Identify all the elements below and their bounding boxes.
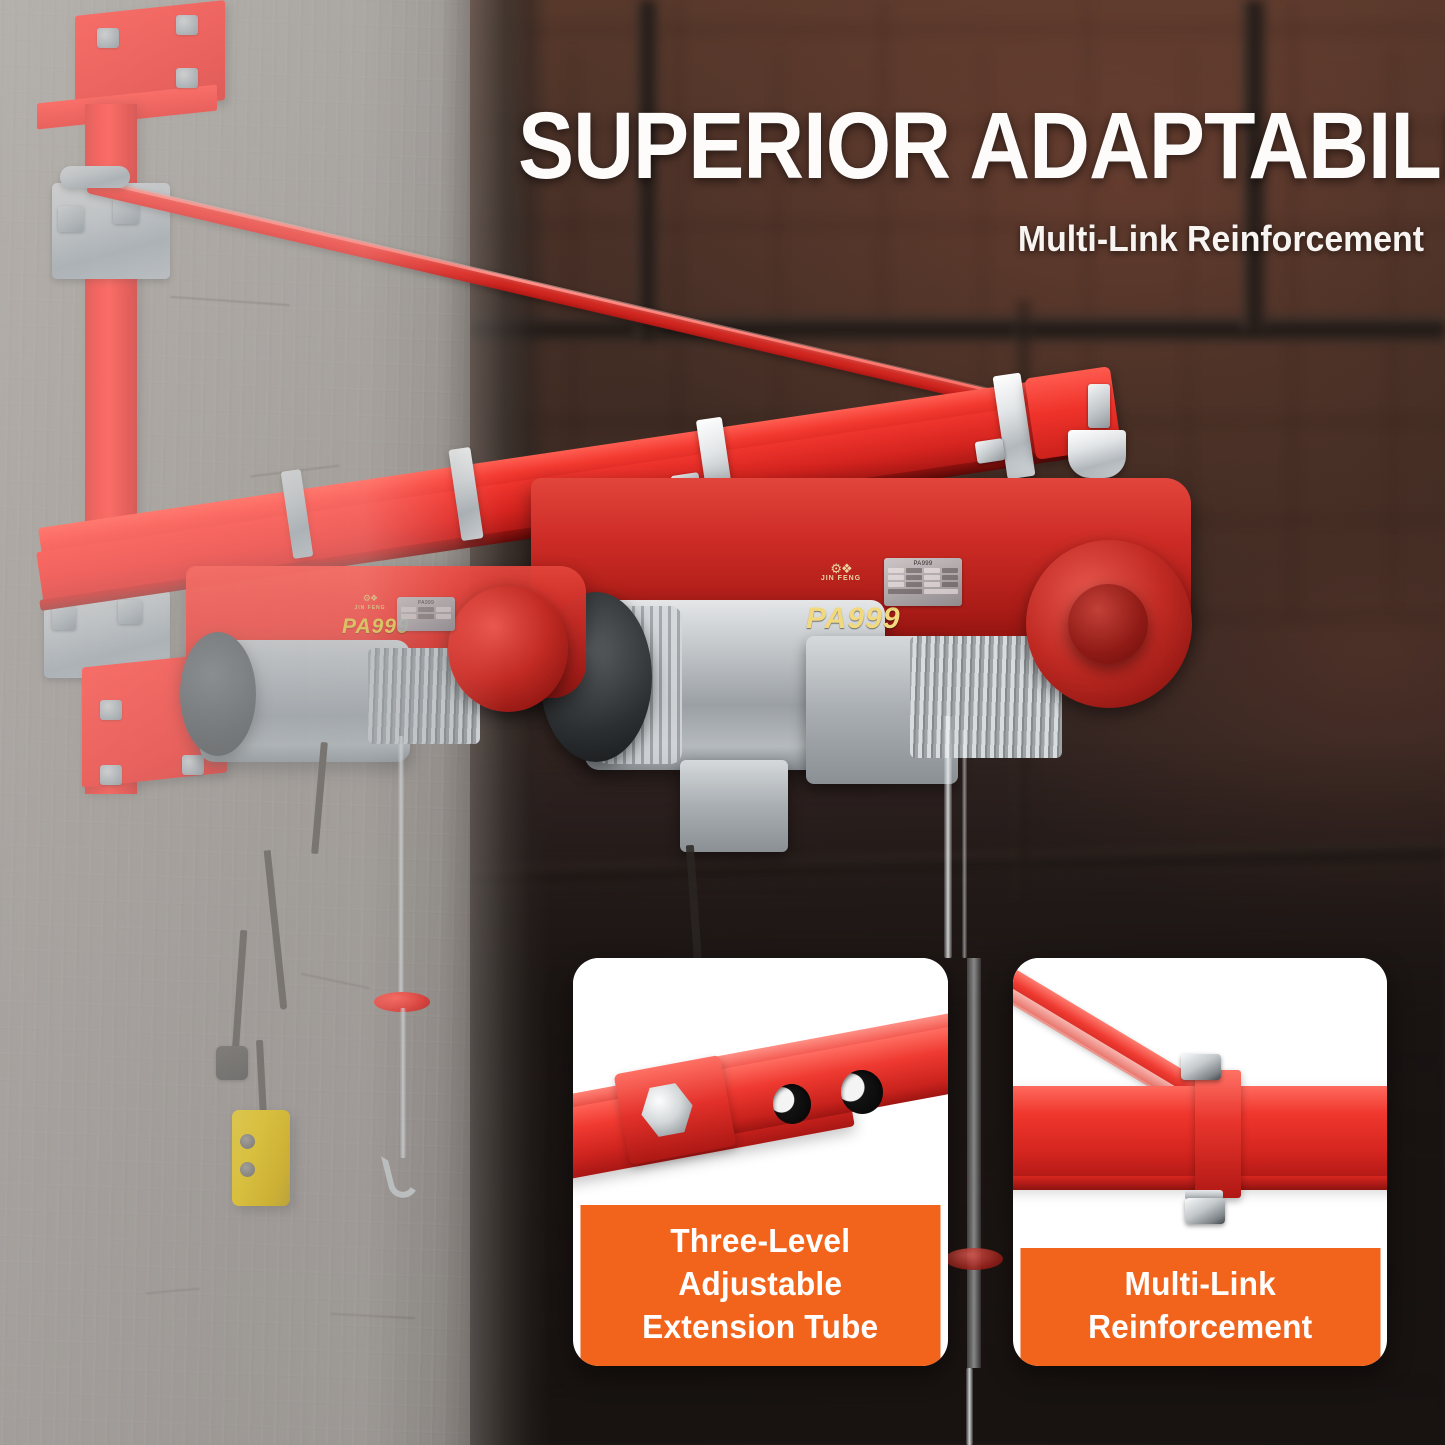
spec-cell xyxy=(942,582,958,587)
spec-plate-row xyxy=(884,588,962,595)
jin-feng-logo-icon: ⚙❖ xyxy=(812,562,870,575)
product-marketing-banner: ⚙❖ JIN FENG PA999 PA999 ⚙❖ JIN FENG PA99… xyxy=(0,0,1445,1445)
plate-bolt-top-left xyxy=(97,28,119,48)
control-cable-right xyxy=(686,845,702,965)
spec-cell xyxy=(906,568,922,573)
feature-card-multi-link[interactable]: Multi-Link Reinforcement xyxy=(1013,958,1388,1366)
spec-cell xyxy=(436,607,451,612)
spec-plate-title-right: PA999 xyxy=(884,558,962,567)
lifting-hook-left xyxy=(381,1149,421,1201)
lower-plate-bolt-4 xyxy=(182,755,204,775)
power-cord-plug-lead xyxy=(232,930,248,1054)
wire-rope-right-tail xyxy=(966,1368,973,1445)
page-subtitle: Multi-Link Reinforcement xyxy=(896,217,1424,261)
page-title: SUPERIOR ADAPTABILITY xyxy=(518,96,1328,196)
motor-junction-box-right xyxy=(680,760,788,852)
upper-clamp-nut-left xyxy=(58,206,84,232)
tie-rod-top-eye xyxy=(60,166,130,188)
plate-bolt-bottom-right xyxy=(176,68,198,88)
feature-card-group: Three-Level Adjustable Extension Tube Mu… xyxy=(573,958,1387,1366)
brand-logo-right: ⚙❖ JIN FENG xyxy=(812,562,870,582)
wire-rope-left xyxy=(398,736,404,1000)
feature-caption-multi-link: Multi-Link Reinforcement xyxy=(1020,1248,1380,1366)
spec-cell xyxy=(924,582,940,587)
jin-feng-logo-icon: ⚙❖ xyxy=(348,592,392,605)
spec-cell xyxy=(924,568,940,573)
spec-plate-row xyxy=(884,581,962,588)
spec-cell xyxy=(942,575,958,580)
model-number-right: PA999 xyxy=(806,602,901,636)
wire-rope-right xyxy=(944,716,952,958)
lower-plate-bolt-1 xyxy=(100,700,122,720)
spec-plate-row xyxy=(397,613,455,620)
tie-rod-highlight xyxy=(90,177,1103,418)
lower-lock-nut xyxy=(1185,1198,1225,1224)
spec-cell xyxy=(888,582,904,587)
spec-cell xyxy=(942,568,958,573)
pendant-up-button[interactable] xyxy=(240,1134,255,1149)
drum-end-cap-left xyxy=(448,586,568,712)
wire-rope-left-lower xyxy=(400,1008,406,1158)
power-cord-loop xyxy=(264,850,288,1010)
spec-cell xyxy=(906,582,922,587)
brand-name-right: JIN FENG xyxy=(812,575,870,582)
spec-plate-left: PA999 xyxy=(397,597,455,631)
spec-plate-title-left: PA999 xyxy=(397,597,455,606)
pendant-control[interactable] xyxy=(232,1110,290,1206)
spec-plate-row xyxy=(884,567,962,574)
spec-cell xyxy=(888,568,904,573)
caption-line-2: Reinforcement xyxy=(1028,1305,1372,1348)
upper-lock-nut xyxy=(1181,1054,1221,1080)
brand-name-left: JIN FENG xyxy=(348,605,392,611)
boom-strap-nut-4 xyxy=(975,438,1006,464)
spec-cell xyxy=(906,575,922,580)
lower-clamp-nut-b xyxy=(118,600,142,624)
spec-cell xyxy=(401,607,416,612)
feature-caption-extension-tube: Three-Level Adjustable Extension Tube xyxy=(580,1205,940,1366)
pendant-cable xyxy=(256,1040,267,1118)
caption-line-1: Three-Level Adjustable xyxy=(588,1219,932,1305)
spec-plate-row xyxy=(884,574,962,581)
caption-line-2: Extension Tube xyxy=(588,1305,932,1348)
feature-image-extension-tube xyxy=(573,958,948,1205)
motor-fan-hood-left xyxy=(180,632,256,756)
feature-card-extension-tube[interactable]: Three-Level Adjustable Extension Tube xyxy=(573,958,948,1366)
spec-cell xyxy=(401,614,416,619)
pendant-down-button[interactable] xyxy=(240,1162,255,1177)
lower-clamp-nut-a xyxy=(52,606,76,630)
caption-line-1: Multi-Link xyxy=(1028,1262,1372,1305)
plate-bolt-top-right xyxy=(176,15,198,35)
link-clamp-plate xyxy=(1195,1070,1241,1198)
spec-cell xyxy=(924,589,958,594)
power-plug xyxy=(216,1046,248,1080)
boom-end-bolt xyxy=(1088,384,1110,428)
spec-plate-row xyxy=(397,606,455,613)
spec-cell xyxy=(924,575,940,580)
spec-cell xyxy=(888,589,922,594)
spec-cell xyxy=(888,575,904,580)
spec-cell xyxy=(418,607,433,612)
spec-cell xyxy=(418,614,433,619)
spec-cell xyxy=(436,614,451,619)
brand-logo-left: ⚙❖ JIN FENG xyxy=(348,592,392,611)
feature-image-multi-link xyxy=(1013,958,1388,1248)
trolley-hanger-right xyxy=(1068,430,1126,478)
spec-plate-right: PA999 xyxy=(884,558,962,606)
drum-hub-right xyxy=(1068,584,1148,664)
wire-rope-right-strand xyxy=(962,730,967,958)
lower-plate-bolt-3 xyxy=(100,765,122,785)
